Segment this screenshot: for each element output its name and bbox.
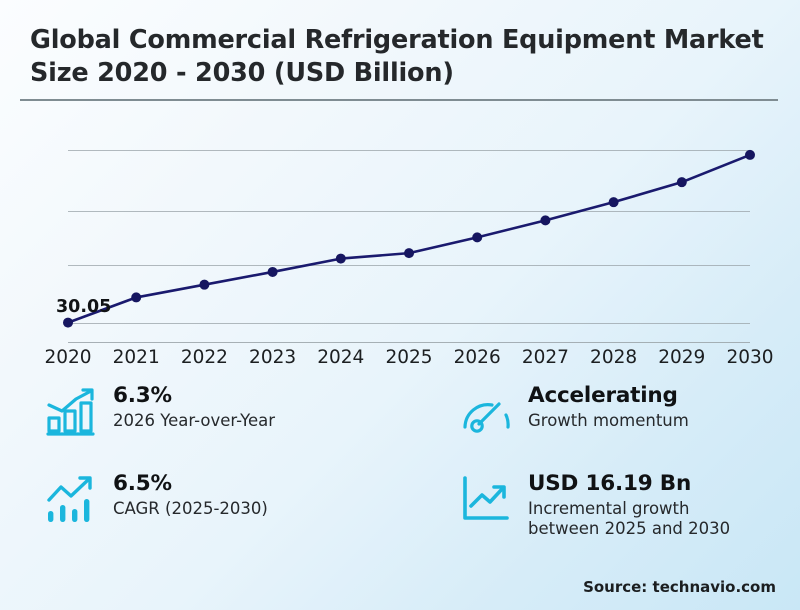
stat-label: 2026 Year-over-Year bbox=[113, 411, 275, 431]
x-axis-tick-label: 2020 bbox=[33, 347, 103, 368]
x-axis-tick-label: 2030 bbox=[715, 347, 785, 368]
data-point-marker bbox=[745, 150, 755, 160]
stat-card-yoy: 6.3% 2026 Year-over-Year bbox=[45, 383, 275, 440]
data-point-label: 30.05 bbox=[56, 297, 111, 317]
data-point-marker bbox=[336, 254, 346, 264]
data-point-marker bbox=[540, 215, 550, 225]
series-line bbox=[68, 155, 750, 323]
data-point-marker bbox=[677, 177, 687, 187]
x-axis-labels: 2020202120222023202420252026202720282029… bbox=[0, 347, 800, 375]
stat-label: Growth momentum bbox=[528, 411, 689, 431]
stat-card-incremental: USD 16.19 Bn Incremental growth between … bbox=[460, 471, 730, 539]
stat-card-momentum: Accelerating Growth momentum bbox=[460, 383, 689, 440]
data-point-marker bbox=[268, 267, 278, 277]
axis-trend-arrow-icon bbox=[460, 474, 516, 528]
x-axis-tick-label: 2027 bbox=[510, 347, 580, 368]
stat-text: Accelerating Growth momentum bbox=[528, 383, 689, 431]
source-credit: Source: technavio.com bbox=[583, 578, 776, 596]
title-divider bbox=[20, 99, 778, 101]
x-axis-tick-label: 2024 bbox=[306, 347, 376, 368]
x-axis-tick-label: 2022 bbox=[169, 347, 239, 368]
stat-text: 6.3% 2026 Year-over-Year bbox=[113, 383, 275, 431]
x-axis-tick-label: 2021 bbox=[101, 347, 171, 368]
data-point-marker bbox=[609, 197, 619, 207]
data-point-marker bbox=[404, 248, 414, 258]
x-axis-tick-label: 2029 bbox=[647, 347, 717, 368]
series-line-layer bbox=[0, 110, 800, 365]
trending-up-bars-icon bbox=[45, 474, 101, 528]
data-point-marker bbox=[63, 318, 73, 328]
x-axis-tick-label: 2026 bbox=[442, 347, 512, 368]
bar-chart-arrow-up-icon bbox=[45, 386, 101, 440]
line-chart: 2020202120222023202420252026202720282029… bbox=[0, 110, 800, 365]
stat-value: USD 16.19 Bn bbox=[528, 472, 730, 495]
x-axis-tick-label: 2028 bbox=[579, 347, 649, 368]
x-axis-tick-label: 2025 bbox=[374, 347, 444, 368]
stat-label: Incremental growth between 2025 and 2030 bbox=[528, 499, 730, 539]
stat-card-cagr: 6.5% CAGR (2025-2030) bbox=[45, 471, 268, 528]
data-point-marker bbox=[199, 280, 209, 290]
speedometer-icon bbox=[460, 386, 516, 440]
data-point-marker bbox=[472, 232, 482, 242]
stats-grid: 6.3% 2026 Year-over-Year Accelerating Gr… bbox=[0, 383, 800, 563]
page-title: Global Commercial Refrigeration Equipmen… bbox=[30, 24, 775, 90]
stat-value: 6.5% bbox=[113, 472, 268, 495]
stat-text: 6.5% CAGR (2025-2030) bbox=[113, 471, 268, 519]
x-axis-tick-label: 2023 bbox=[238, 347, 308, 368]
title-block: Global Commercial Refrigeration Equipmen… bbox=[30, 24, 775, 90]
chart-infographic: Global Commercial Refrigeration Equipmen… bbox=[0, 0, 800, 610]
stat-value: Accelerating bbox=[528, 384, 689, 407]
stat-text: USD 16.19 Bn Incremental growth between … bbox=[528, 471, 730, 539]
data-point-marker bbox=[131, 292, 141, 302]
stat-label: CAGR (2025-2030) bbox=[113, 499, 268, 519]
stat-value: 6.3% bbox=[113, 384, 275, 407]
